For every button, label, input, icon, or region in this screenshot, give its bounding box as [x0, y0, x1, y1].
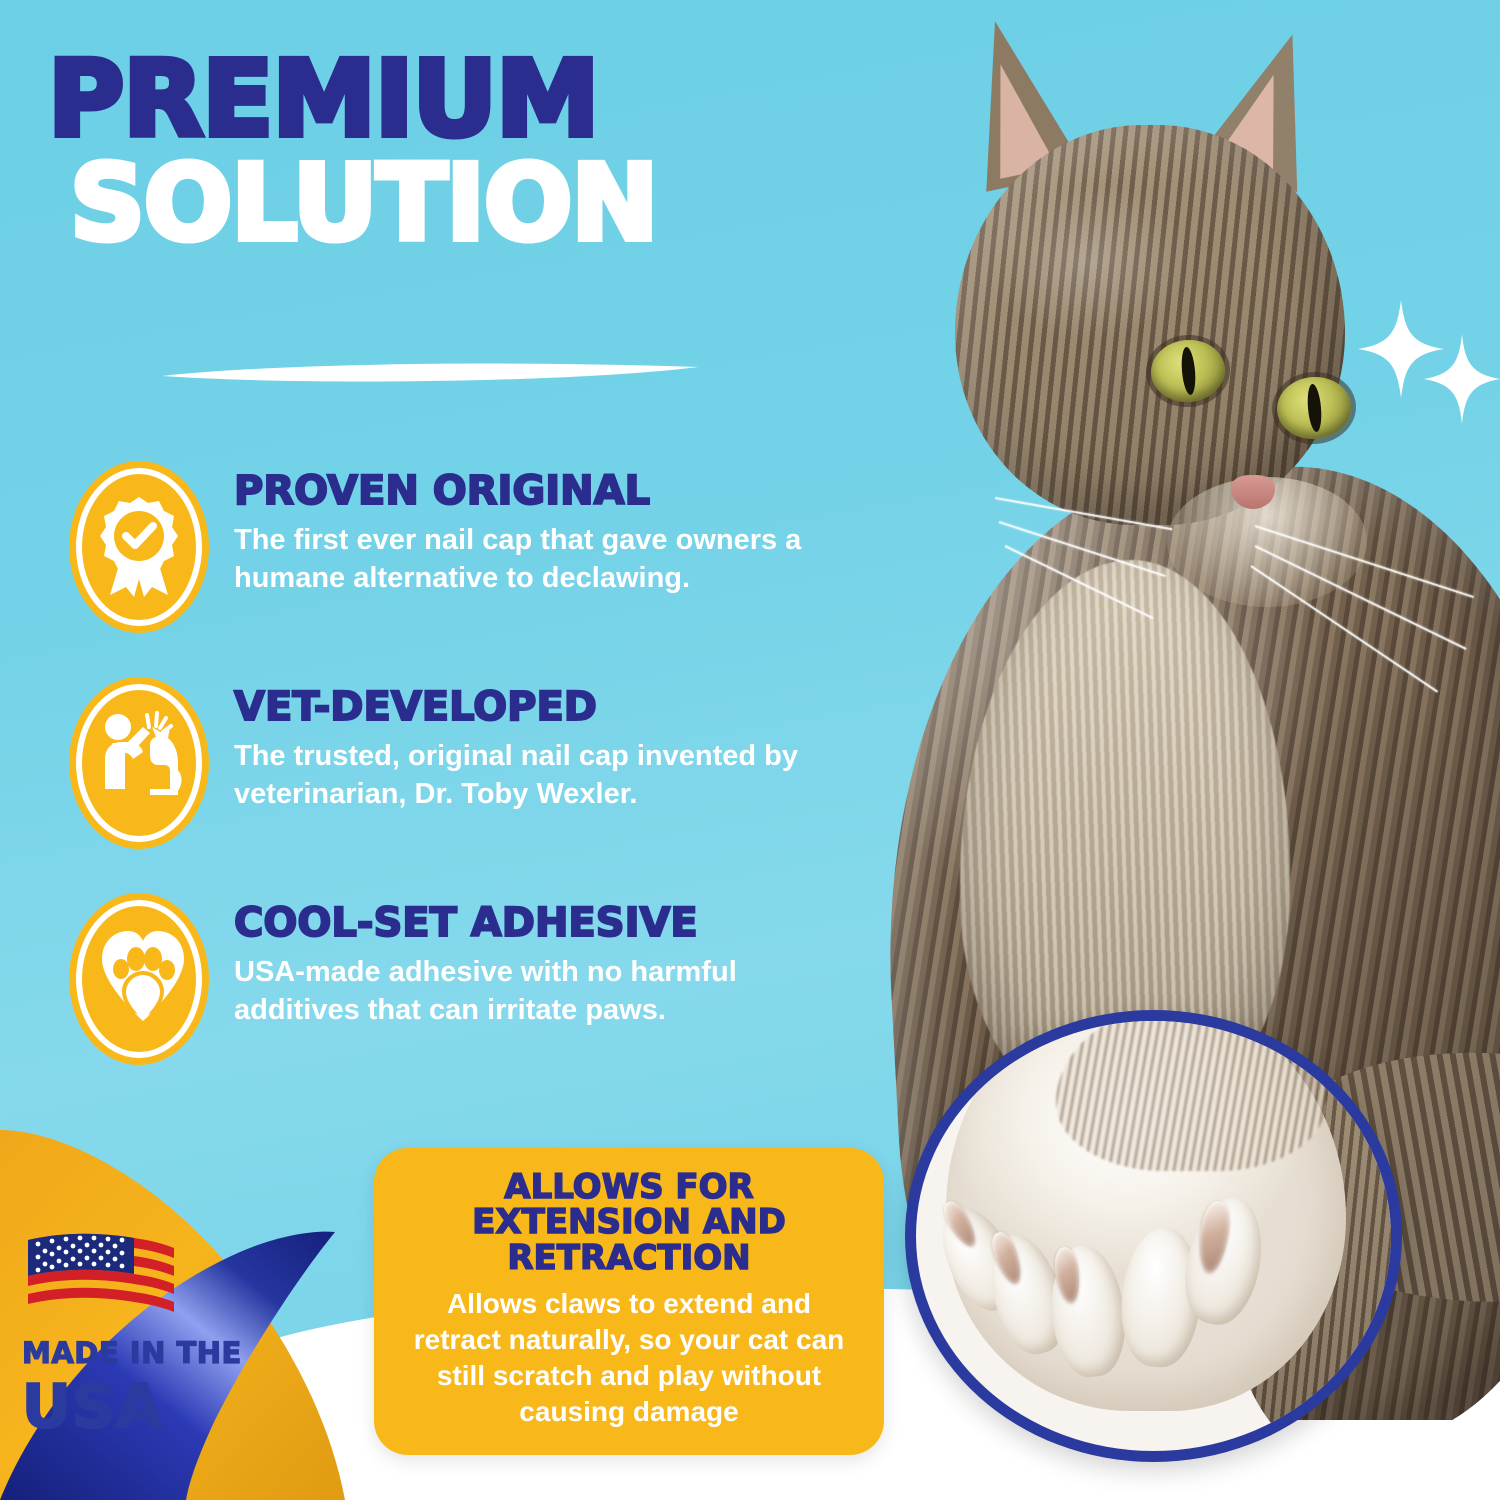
feature-title: PROVEN ORIGINAL — [234, 468, 850, 514]
page-title: PREMIUM SOLUTION — [48, 52, 657, 252]
usa-label: USA — [22, 1372, 272, 1442]
heart-paw-icon — [60, 894, 218, 1064]
cat-paw-with-nail-caps-closeup — [905, 1010, 1402, 1462]
feature-description: The first ever nail cap that gave owners… — [234, 522, 850, 597]
product-infographic: PREMIUM SOLUTION PROVEN ORIGINAL — [0, 0, 1500, 1500]
feature-item-proven-original: PROVEN ORIGINAL The first ever nail cap … — [60, 462, 850, 632]
feature-text: VET-DEVELOPED The trusted, original nail… — [234, 678, 850, 813]
title-line-premium: PREMIUM — [48, 52, 657, 148]
callout-title: ALLOWS FOR EXTENSION AND RETRACTION — [400, 1170, 858, 1276]
made-in-usa-badge: MADE IN THE USA — [22, 1230, 272, 1442]
cat-pupil-right — [1306, 383, 1323, 432]
usa-flag-icon — [22, 1230, 177, 1322]
made-in-the-label: MADE IN THE — [22, 1336, 272, 1370]
feature-text: PROVEN ORIGINAL The first ever nail cap … — [234, 462, 850, 597]
feature-title: VET-DEVELOPED — [234, 684, 850, 730]
extension-retraction-callout: ALLOWS FOR EXTENSION AND RETRACTION Allo… — [374, 1148, 884, 1455]
sparkle-star-small-icon — [1424, 334, 1500, 424]
award-ribbon-icon — [60, 462, 218, 632]
feature-list: PROVEN ORIGINAL The first ever nail cap … — [60, 462, 850, 1110]
cat-head — [955, 125, 1345, 525]
feature-text: COOL-SET ADHESIVE USA-made adhesive with… — [234, 894, 850, 1029]
cat-eye-left — [1148, 337, 1227, 405]
callout-description: Allows claws to extend and retract natur… — [400, 1286, 858, 1429]
title-line-solution: SOLUTION — [70, 154, 657, 253]
cat-eye-right — [1274, 374, 1353, 442]
feature-title: COOL-SET ADHESIVE — [234, 900, 850, 946]
cat-pupil-left — [1180, 346, 1197, 395]
vet-high-five-cat-icon — [60, 678, 218, 848]
paw-top-fur — [1056, 1010, 1326, 1171]
title-underline-swoosh — [160, 360, 700, 386]
feature-description: USA-made adhesive with no harmful additi… — [234, 954, 850, 1029]
feature-item-cool-set-adhesive: COOL-SET ADHESIVE USA-made adhesive with… — [60, 894, 850, 1064]
feature-description: The trusted, original nail cap invented … — [234, 738, 850, 813]
feature-item-vet-developed: VET-DEVELOPED The trusted, original nail… — [60, 678, 850, 848]
